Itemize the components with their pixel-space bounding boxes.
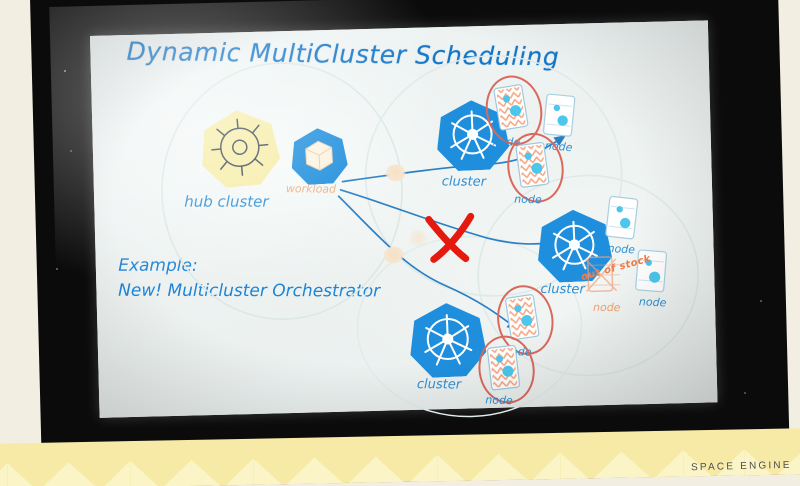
red-x-reject-mark [416, 206, 487, 268]
cluster-label-top-right: cluster [442, 174, 486, 189]
kubernetes-helm-glyph [408, 301, 487, 378]
node-card-plain [604, 195, 639, 240]
dust-speck [56, 268, 58, 270]
dust-speck [64, 70, 66, 72]
dust-speck [70, 150, 72, 152]
photo-of-projected-slide: Dynamic MultiCluster Scheduling Example:… [0, 0, 800, 486]
dust-speck [744, 392, 746, 394]
dust-speck [36, 300, 38, 302]
node-label: node [485, 393, 513, 407]
dust-speck [760, 300, 762, 302]
cluster-icon-bottom [408, 301, 487, 378]
node-label-out-of-stock: node [593, 301, 621, 314]
node-label: node [639, 295, 667, 309]
node-label: node [514, 193, 542, 207]
slide-canvas: Dynamic MultiCluster Scheduling Example:… [90, 20, 717, 418]
node-card-plain [542, 93, 576, 138]
cluster-label-bottom: cluster [417, 377, 461, 392]
